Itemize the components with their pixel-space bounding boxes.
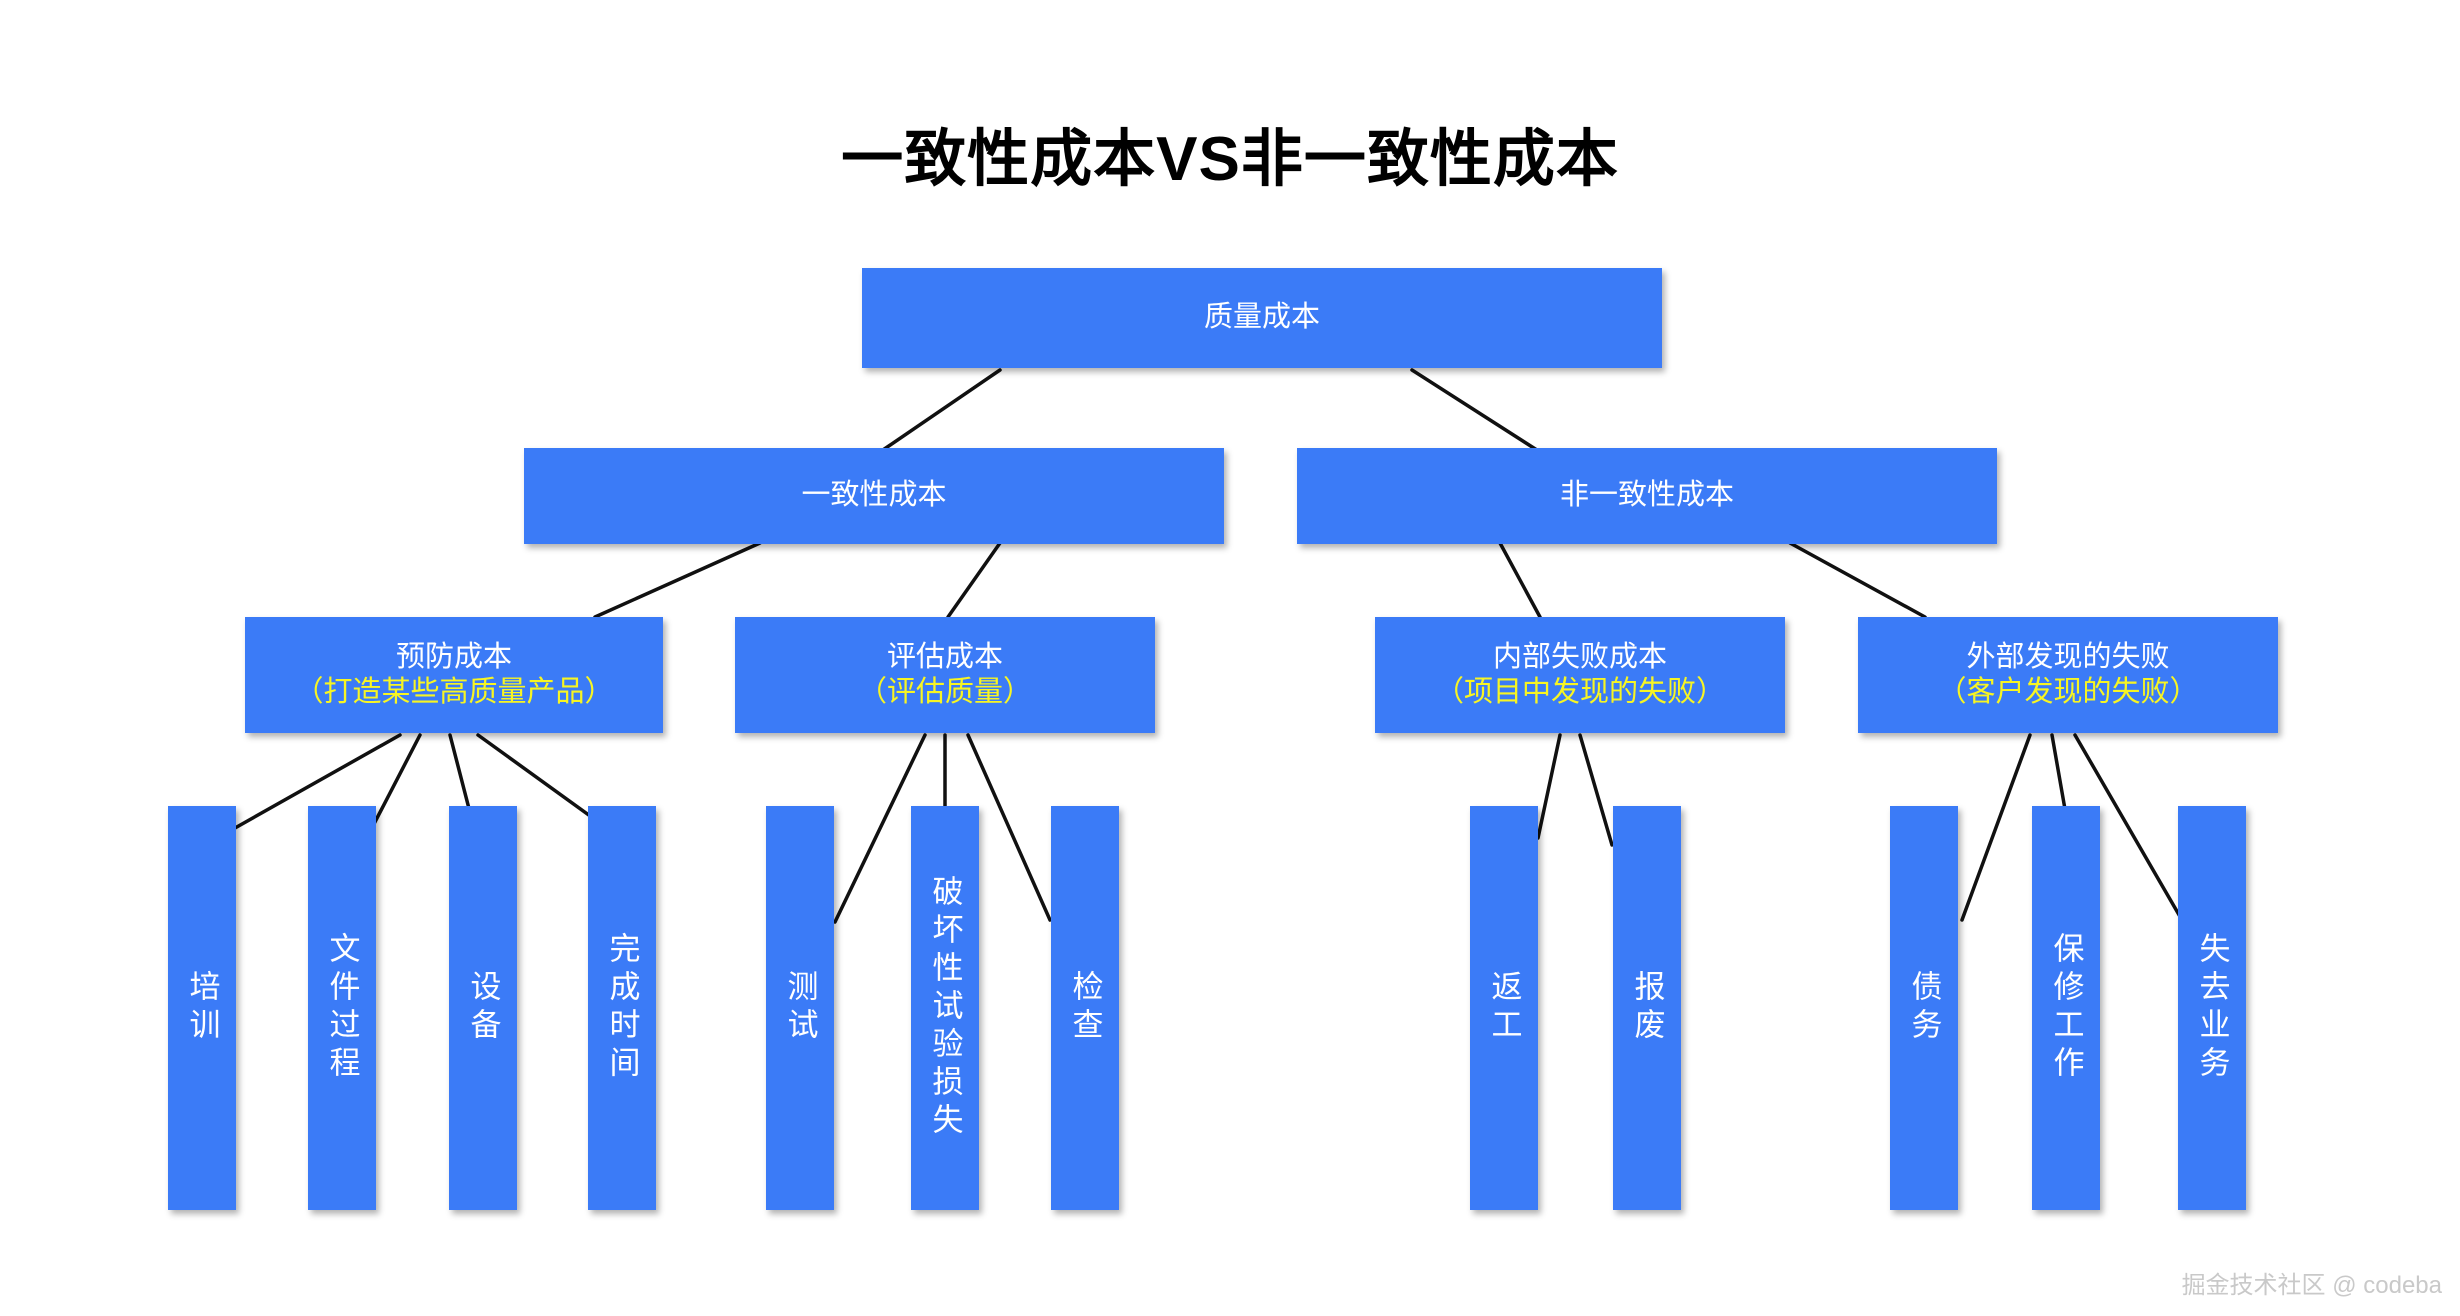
leaf-label: 检查 <box>1070 970 1101 1046</box>
node-external-failure-cost[interactable]: 外部发现的失败 （客户发现的失败） <box>1858 617 2278 733</box>
edge-internal-to-rework <box>1538 735 1560 838</box>
leaf-test[interactable]: 测试 <box>766 806 834 1210</box>
edge-conformance-to-appraisal <box>948 543 1000 617</box>
node-sublabel: （评估质量） <box>858 675 1032 710</box>
leaf-label: 破坏性试验损失 <box>930 875 961 1141</box>
node-sublabel: （打造某些高质量产品） <box>294 675 613 710</box>
diagram-canvas: 一致性成本VS非一致性成本 <box>0 0 2460 1316</box>
node-conformance-cost[interactable]: 一致性成本 <box>524 448 1224 544</box>
leaf-label: 报废 <box>1632 970 1663 1046</box>
leaf-document-process[interactable]: 文件过程 <box>308 806 376 1210</box>
watermark: 掘金技术社区 @ codeba <box>2182 1265 2442 1300</box>
node-label: 质量成本 <box>1204 300 1320 335</box>
edge-nonconformance-to-internal <box>1500 543 1540 617</box>
edge-root-to-conformance <box>880 370 1000 452</box>
edge-external-to-debt <box>1962 735 2030 920</box>
leaf-lost-business[interactable]: 失去业务 <box>2178 806 2246 1210</box>
edge-internal-to-scrap <box>1580 735 1612 845</box>
leaf-warranty-work[interactable]: 保修工作 <box>2032 806 2100 1210</box>
node-label: 外部发现的失败 <box>1966 640 2169 675</box>
page-title: 一致性成本VS非一致性成本 <box>0 108 2460 198</box>
edge-nonconformance-to-external <box>1790 543 1925 617</box>
leaf-label: 返工 <box>1489 970 1520 1046</box>
edge-conformance-to-prevention <box>595 543 760 617</box>
edge-appraisal-to-inspect <box>968 735 1050 920</box>
node-label: 内部失败成本 <box>1493 640 1667 675</box>
leaf-label: 债务 <box>1909 970 1940 1046</box>
leaf-label: 完成时间 <box>607 932 638 1084</box>
leaf-equipment[interactable]: 设备 <box>449 806 517 1210</box>
leaf-label: 保修工作 <box>2051 932 2082 1084</box>
leaf-training[interactable]: 培训 <box>168 806 236 1210</box>
leaf-inspection[interactable]: 检查 <box>1051 806 1119 1210</box>
node-prevention-cost[interactable]: 预防成本 （打造某些高质量产品） <box>245 617 663 733</box>
node-internal-failure-cost[interactable]: 内部失败成本 （项目中发现的失败） <box>1375 617 1785 733</box>
node-label: 预防成本 <box>396 640 512 675</box>
node-label: 评估成本 <box>887 640 1003 675</box>
node-quality-cost[interactable]: 质量成本 <box>862 268 1662 368</box>
leaf-label: 培训 <box>187 970 218 1046</box>
leaf-rework[interactable]: 返工 <box>1470 806 1538 1210</box>
leaf-label: 设备 <box>468 970 499 1046</box>
leaf-destructive-test-loss[interactable]: 破坏性试验损失 <box>911 806 979 1210</box>
node-nonconformance-cost[interactable]: 非一致性成本 <box>1297 448 1997 544</box>
leaf-liability[interactable]: 债务 <box>1890 806 1958 1210</box>
leaf-label: 测试 <box>785 970 816 1046</box>
node-sublabel: （项目中发现的失败） <box>1435 675 1725 710</box>
node-label: 非一致性成本 <box>1560 478 1734 513</box>
leaf-completion-time[interactable]: 完成时间 <box>588 806 656 1210</box>
node-appraisal-cost[interactable]: 评估成本 （评估质量） <box>735 617 1155 733</box>
leaf-label: 失去业务 <box>2197 932 2228 1084</box>
leaf-scrap[interactable]: 报废 <box>1613 806 1681 1210</box>
edge-external-to-warranty <box>2052 735 2066 815</box>
edge-root-to-nonconformance <box>1412 370 1540 452</box>
leaf-label: 文件过程 <box>327 932 358 1084</box>
node-label: 一致性成本 <box>801 478 946 513</box>
node-sublabel: （客户发现的失败） <box>1937 675 2198 710</box>
